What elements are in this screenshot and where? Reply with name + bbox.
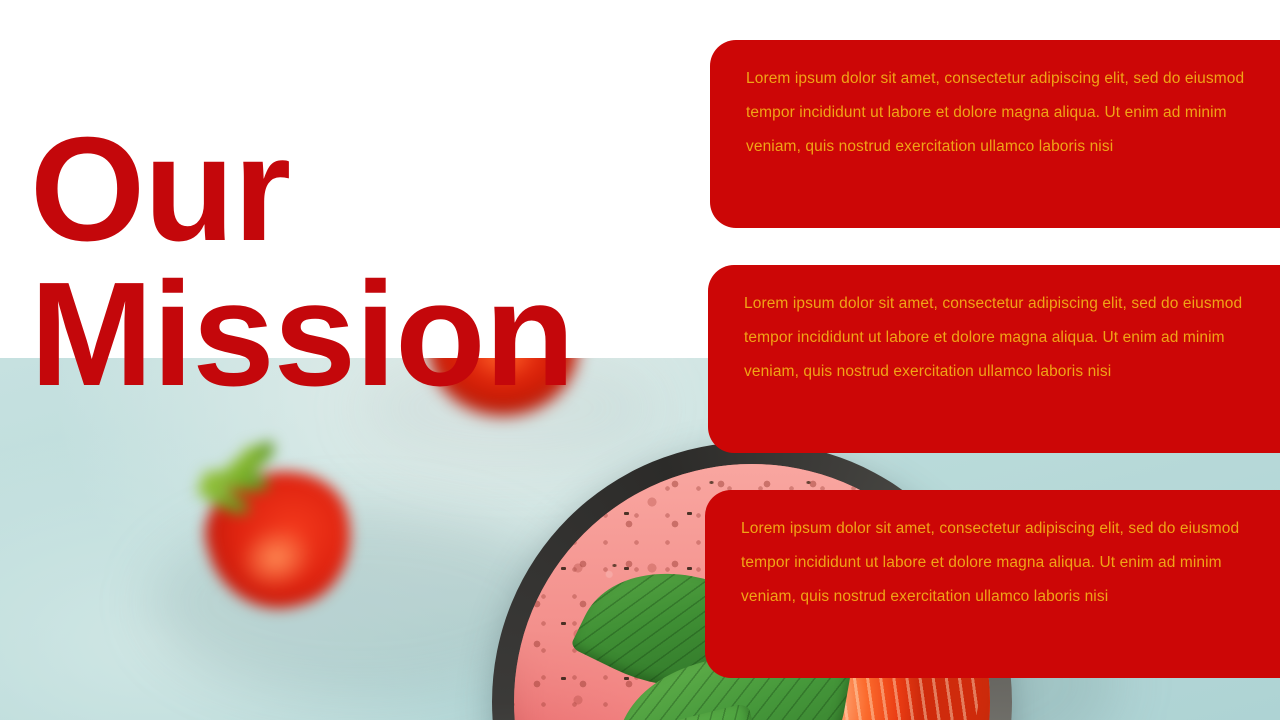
content-card-3: Lorem ipsum dolor sit amet, consectetur … bbox=[705, 490, 1280, 678]
content-card-2: Lorem ipsum dolor sit amet, consectetur … bbox=[708, 265, 1280, 453]
slide-canvas: Our Mission Lorem ipsum dolor sit amet, … bbox=[0, 0, 1280, 720]
page-title: Our Mission bbox=[30, 117, 670, 407]
content-card-1: Lorem ipsum dolor sit amet, consectetur … bbox=[710, 40, 1280, 228]
strawberry-hull bbox=[194, 446, 302, 530]
content-card-2-text: Lorem ipsum dolor sit amet, consectetur … bbox=[744, 295, 1242, 380]
content-card-3-text: Lorem ipsum dolor sit amet, consectetur … bbox=[741, 520, 1239, 605]
content-card-1-text: Lorem ipsum dolor sit amet, consectetur … bbox=[746, 70, 1244, 155]
photo-strawberry-left bbox=[188, 446, 364, 608]
